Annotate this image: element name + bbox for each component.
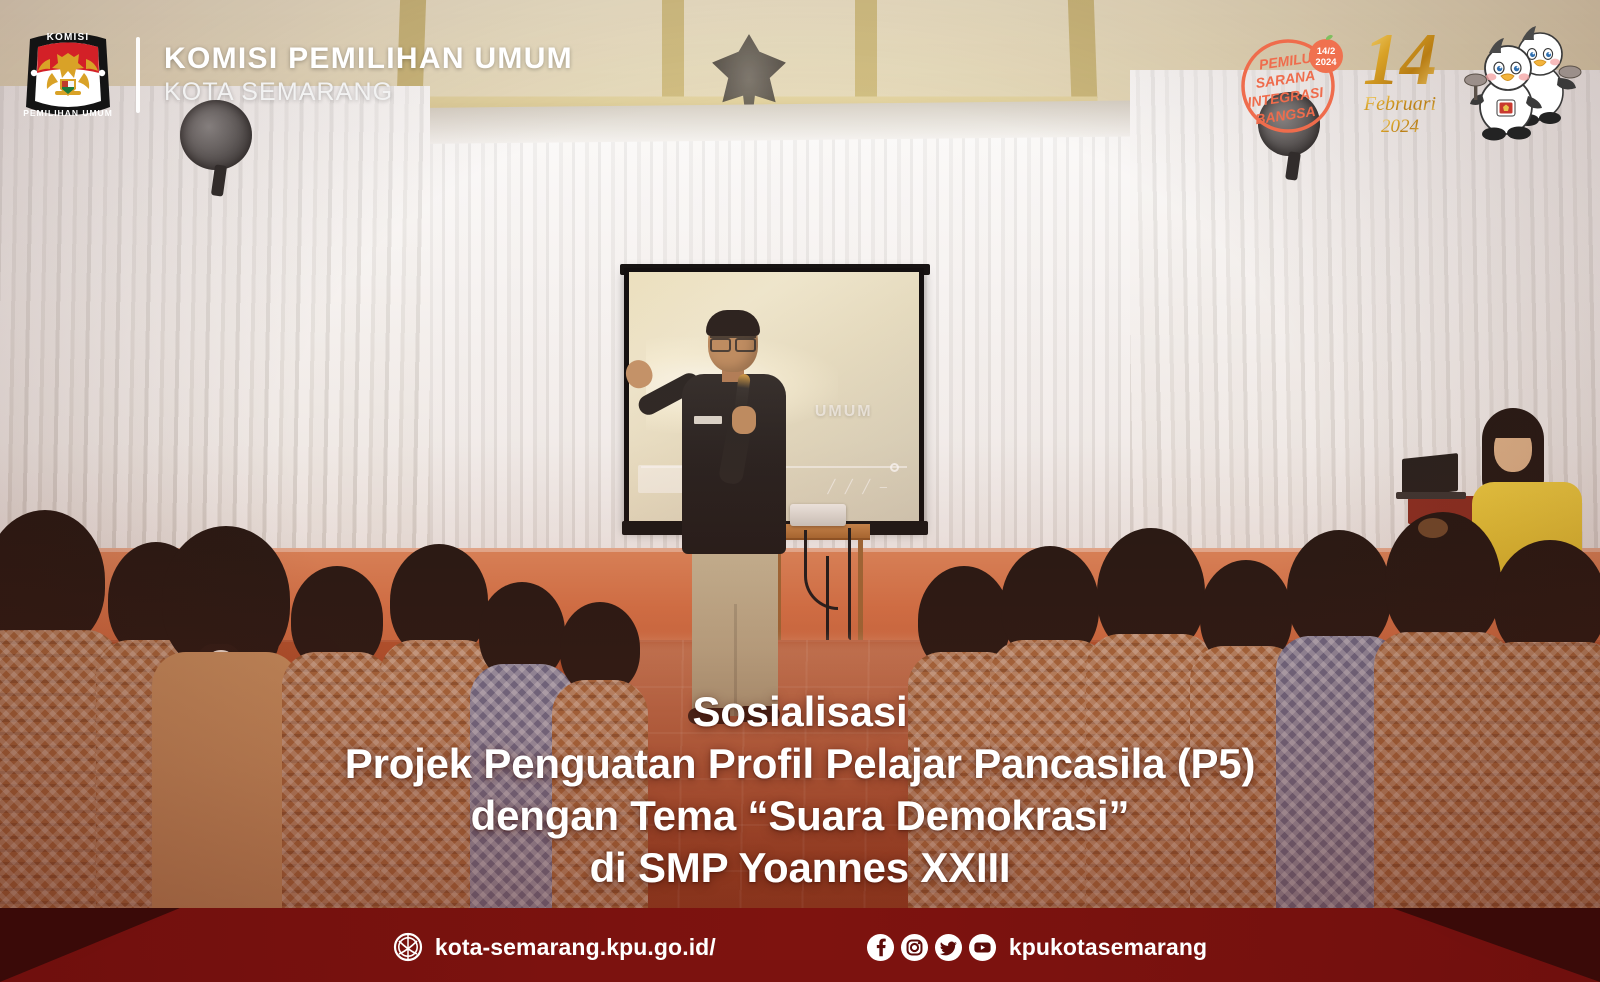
date-number: 14 [1363, 19, 1437, 101]
header-title: KOMISI PEMILIHAN UMUM [164, 43, 573, 75]
poster-canvas: UMUM ╱ ╱ ╱ – [0, 0, 1600, 982]
date-month: Februari [1363, 93, 1436, 115]
svg-text:PEMILIHAN UMUM: PEMILIHAN UMUM [23, 108, 113, 118]
website-url[interactable]: kota-semarang.kpu.go.id/ [435, 934, 716, 961]
website-group[interactable]: kota-semarang.kpu.go.id/ [393, 932, 716, 962]
header-divider [136, 37, 140, 113]
globe-dribbble-icon [393, 932, 423, 962]
kpu-logo: KOMISI PEMILIHAN UMUM [22, 23, 114, 127]
title-line-3: dengan Tema “Suara Demokrasi” [40, 790, 1560, 842]
title-line-2: Projek Penguatan Profil Pelajar Pancasil… [40, 738, 1560, 790]
event-title-block: Sosialisasi Projek Penguatan Profil Pela… [0, 686, 1600, 894]
facebook-icon[interactable] [866, 933, 895, 962]
youtube-icon[interactable] [968, 933, 997, 962]
slide-text: UMUM [815, 403, 873, 421]
social-handle[interactable]: kpukotasemarang [1009, 934, 1207, 961]
sura-sulu-mascots [1454, 16, 1582, 144]
pemilu-sarana-integrasi-bangsa-stamp: PEMILU SARANA INTEGRASI BANGSA 14/2 2024 [1236, 28, 1346, 138]
social-group[interactable]: kpukotasemarang [866, 933, 1207, 962]
title-line-4: di SMP Yoannes XXIII [40, 842, 1560, 894]
14-februari-2024-logo: 14 Februari 2024 [1350, 12, 1450, 142]
header-subtitle: KOTA SEMARANG [164, 78, 573, 107]
poster-footer: kota-semarang.kpu.go.id/ [0, 908, 1600, 982]
instagram-icon[interactable] [900, 933, 929, 962]
stamp-date-line1: 14/2 [1317, 46, 1336, 57]
title-line-1: Sosialisasi [40, 686, 1560, 738]
date-year: 2024 [1381, 116, 1420, 137]
campaign-logo-cluster: PEMILU SARANA INTEGRASI BANGSA 14/2 2024… [1236, 12, 1582, 152]
svg-text:KOMISI: KOMISI [47, 32, 90, 43]
stamp-date-line2: 2024 [1315, 57, 1337, 68]
twitter-icon[interactable] [934, 933, 963, 962]
